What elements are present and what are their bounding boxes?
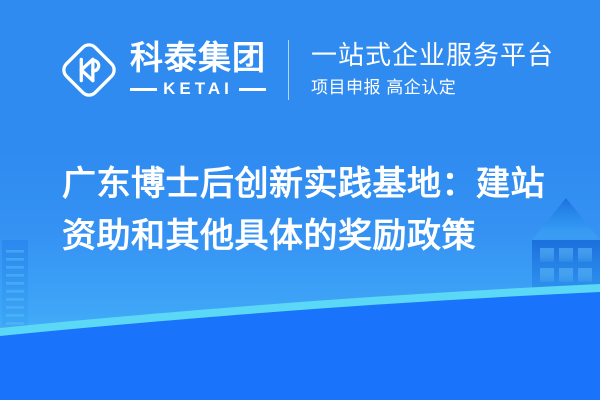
header-tagline: 一站式企业服务平台 项目申报 高企认定	[311, 40, 554, 101]
wave-divider	[0, 280, 600, 400]
logo-dash-left	[130, 88, 157, 91]
promo-banner: 科泰集团 KETAI 一站式企业服务平台 项目申报 高企认定 广东博士后创新实践…	[0, 0, 600, 400]
brand-wordmark: 科泰集团 KETAI	[130, 41, 266, 100]
ketai-diamond-monogram-icon	[60, 41, 118, 99]
brand-name-en-row: KETAI	[130, 79, 266, 99]
brand-name-cn: 科泰集团	[130, 41, 266, 76]
page-title: 广东博士后创新实践基地：建站资助和其他具体的奖励政策	[62, 158, 562, 262]
brand-logo[interactable]: 科泰集团 KETAI	[60, 41, 266, 100]
tagline-primary: 一站式企业服务平台	[311, 40, 554, 71]
logo-dash-right	[239, 88, 266, 91]
header-divider	[288, 40, 289, 100]
brand-name-en: KETAI	[157, 79, 239, 99]
banner-header: 科泰集团 KETAI 一站式企业服务平台 项目申报 高企认定	[0, 0, 600, 140]
tagline-secondary: 项目申报 高企认定	[311, 75, 554, 101]
